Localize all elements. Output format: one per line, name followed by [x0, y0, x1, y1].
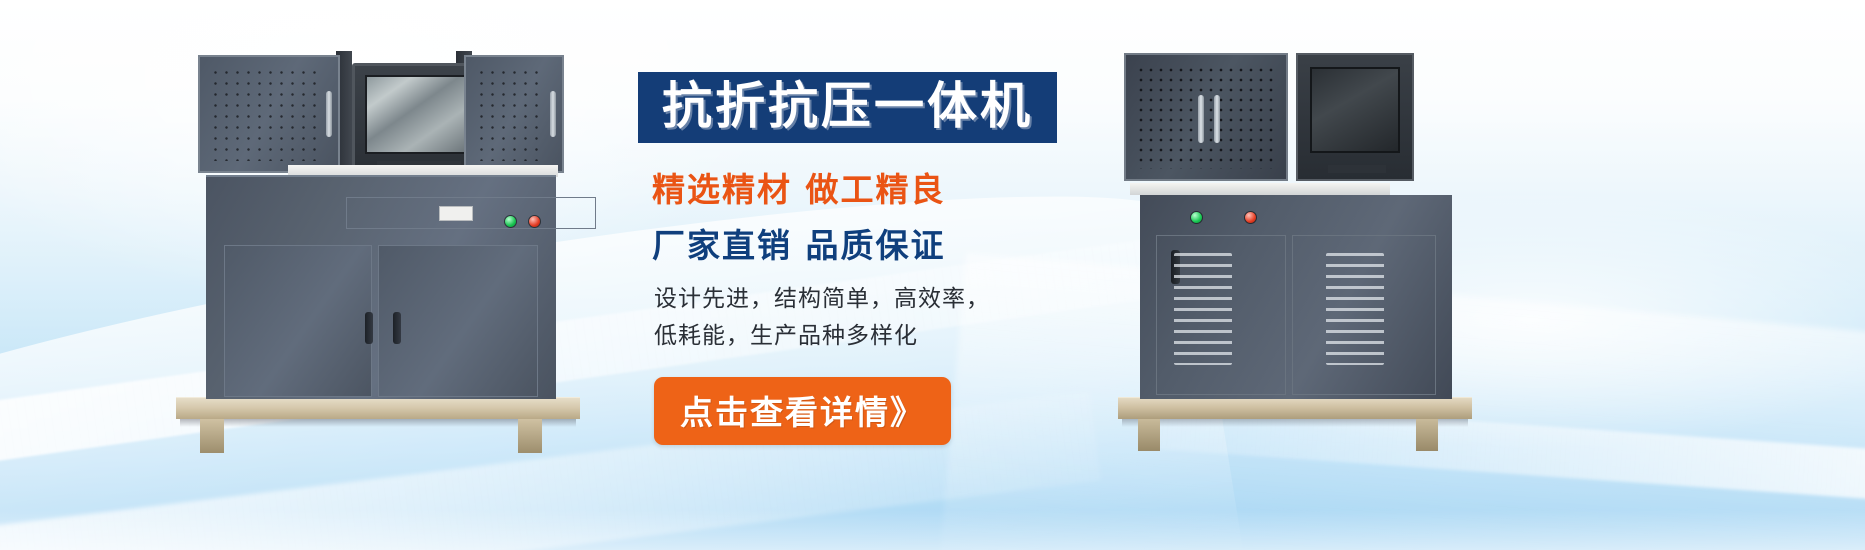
- lower-door-right: [378, 245, 538, 397]
- banner-title: 抗折抗压一体机: [662, 80, 1033, 133]
- cabinet-handle: [326, 91, 332, 137]
- power-indicator-green: [504, 215, 517, 228]
- subtitle-orange: 精选精材 做工精良: [652, 163, 1260, 211]
- bottom-fade: [0, 510, 1865, 550]
- machine-image-left: [170, 45, 590, 425]
- cta-button[interactable]: 点击查看详情》: [654, 377, 951, 445]
- monitor-screen: [1310, 67, 1400, 153]
- description-block: 设计先进，结构简单，高效率， 低耗能，生产品种多样化: [654, 281, 1260, 356]
- perforated-cabinet-left: [198, 55, 340, 173]
- pallet-leg-right: [518, 419, 542, 453]
- banner-copy: 抗折抗压一体机 精选精材 做工精良 厂家直销 品质保证 设计先进，结构简单，高效…: [620, 72, 1260, 445]
- perforated-cabinet-right: [464, 55, 564, 173]
- cabinet-handle: [550, 91, 556, 137]
- door-handle-left: [365, 312, 373, 344]
- wooden-pallet: [176, 397, 580, 419]
- control-monitor: [1296, 53, 1414, 181]
- power-indicator-red: [528, 215, 541, 228]
- monitor-base: [1328, 165, 1386, 173]
- machine-main-body: [206, 175, 556, 399]
- pallet-leg-left: [200, 419, 224, 453]
- cta-button-label: 点击查看详情》: [680, 393, 925, 432]
- control-monitor: [352, 63, 480, 173]
- title-bar: 抗折抗压一体机: [638, 72, 1057, 143]
- description-line-1: 设计先进，结构简单，高效率，: [654, 281, 1260, 318]
- monitor-screen: [365, 75, 467, 154]
- vent-louver-right: [1326, 253, 1384, 365]
- perforation-pattern: [210, 67, 316, 161]
- lower-door-left: [224, 245, 372, 397]
- product-banner: 抗折抗压一体机 精选精材 做工精良 厂家直销 品质保证 设计先进，结构简单，高效…: [0, 0, 1865, 550]
- control-drawer: [346, 197, 596, 229]
- subtitle-navy: 厂家直销 品质保证: [652, 219, 1260, 267]
- pallet-leg-right: [1416, 419, 1438, 451]
- drawer-label: [439, 206, 473, 221]
- perforation-pattern: [476, 67, 540, 161]
- description-line-2: 低耗能，生产品种多样化: [654, 318, 1260, 355]
- door-handle-right: [393, 312, 401, 344]
